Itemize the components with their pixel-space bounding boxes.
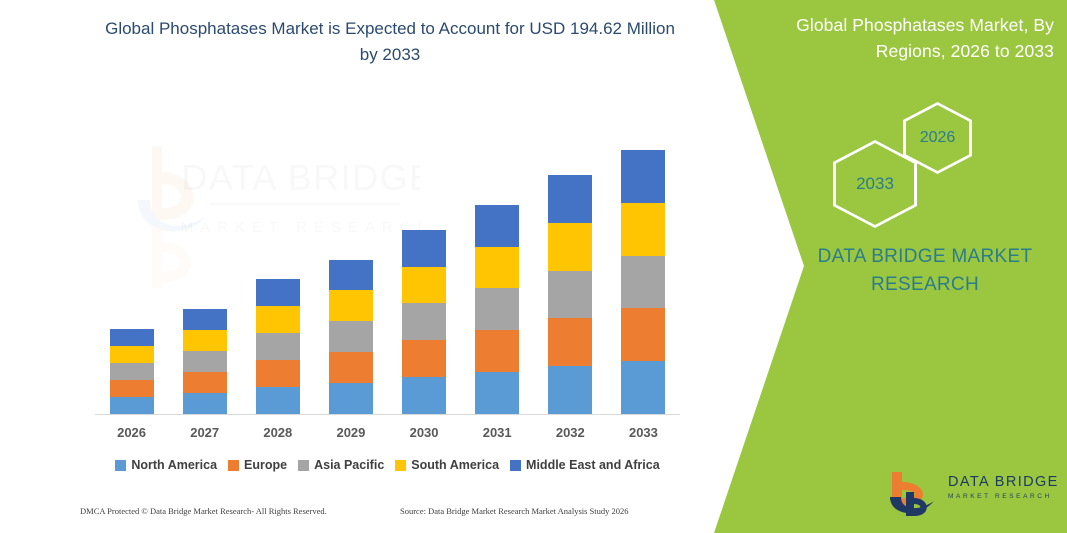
bar-segment xyxy=(548,223,592,271)
bar-segment xyxy=(110,363,154,380)
legend-swatch xyxy=(228,460,239,471)
stacked-bar xyxy=(548,175,592,414)
legend-swatch xyxy=(510,460,521,471)
bar-segment xyxy=(329,383,373,414)
legend-label: North America xyxy=(131,458,217,472)
data-bridge-logo: DATA BRIDGE MARKET RESEARCH xyxy=(888,470,1060,518)
legend-swatch xyxy=(115,460,126,471)
x-axis-label: 2033 xyxy=(607,425,679,440)
bar-column xyxy=(169,120,241,414)
bar-segment xyxy=(183,309,227,330)
legend-swatch xyxy=(395,460,406,471)
bar-segment xyxy=(548,318,592,366)
panel-brand: DATA BRIDGE MARKET RESEARCH xyxy=(790,243,1060,299)
bar-segment xyxy=(402,340,446,377)
bar-segment xyxy=(548,271,592,319)
legend-label: Asia Pacific xyxy=(314,458,384,472)
bar-segment xyxy=(621,361,665,414)
x-axis-labels: 20262027202820292030203120322033 xyxy=(95,420,680,444)
bar-segment xyxy=(402,377,446,414)
hexagon-year-2033-label: 2033 xyxy=(836,143,914,225)
stacked-bar xyxy=(256,279,300,414)
bar-column xyxy=(534,120,606,414)
bar-column xyxy=(607,120,679,414)
bar-segment xyxy=(183,372,227,393)
bar-segment xyxy=(256,306,300,333)
legend-item[interactable]: Middle East and Africa xyxy=(510,458,660,472)
bar-segment xyxy=(183,393,227,414)
bar-segment xyxy=(183,330,227,351)
legend-label: South America xyxy=(411,458,499,472)
footer-source: Source: Data Bridge Market Research Mark… xyxy=(400,506,629,516)
legend-item[interactable]: Europe xyxy=(228,458,287,472)
data-bridge-logo-mark xyxy=(888,470,942,518)
stacked-bar xyxy=(183,309,227,414)
data-bridge-logo-text: DATA BRIDGE MARKET RESEARCH xyxy=(948,474,1060,503)
logo-line1: DATA BRIDGE xyxy=(948,474,1060,491)
bar-segment xyxy=(621,150,665,203)
bar-segment xyxy=(621,256,665,309)
bar-segment xyxy=(548,366,592,414)
stacked-bar xyxy=(621,150,665,414)
bar-column xyxy=(242,120,314,414)
bar-column xyxy=(315,120,387,414)
logo-line2: MARKET RESEARCH xyxy=(948,491,1060,503)
footer-copyright: DMCA Protected © Data Bridge Market Rese… xyxy=(80,506,327,516)
x-axis-label: 2031 xyxy=(461,425,533,440)
bar-segment xyxy=(329,352,373,383)
bar-segment xyxy=(475,288,519,330)
x-axis-line xyxy=(95,414,680,415)
hexagon-year-2026-label: 2026 xyxy=(906,105,969,171)
bar-segment xyxy=(110,380,154,397)
x-axis-label: 2032 xyxy=(534,425,606,440)
stacked-bar xyxy=(110,329,154,414)
bar-segment xyxy=(256,387,300,414)
stacked-bar xyxy=(475,205,519,414)
bar-segment xyxy=(329,260,373,291)
panel-title: Global Phosphatases Market, By Regions, … xyxy=(786,12,1054,64)
bar-segment xyxy=(329,290,373,321)
bar-segment xyxy=(475,372,519,414)
footer: DMCA Protected © Data Bridge Market Rese… xyxy=(80,506,680,524)
x-axis-label: 2028 xyxy=(242,425,314,440)
bar-segment xyxy=(475,205,519,247)
bar-column xyxy=(96,120,168,414)
bar-column xyxy=(461,120,533,414)
bar-segment xyxy=(256,360,300,387)
legend-item[interactable]: South America xyxy=(395,458,499,472)
bar-segment xyxy=(402,267,446,304)
bar-segment xyxy=(183,351,227,372)
bar-segment xyxy=(621,203,665,256)
panel-brand-line1: DATA BRIDGE MARKET xyxy=(790,243,1060,271)
chart-legend: North AmericaEuropeAsia PacificSouth Ame… xyxy=(95,454,680,476)
bar-segment xyxy=(110,346,154,363)
panel-brand-line2: RESEARCH xyxy=(790,271,1060,299)
bar-segment xyxy=(621,308,665,361)
bar-segment xyxy=(402,230,446,267)
infographic-canvas: Global Phosphatases Market is Expected t… xyxy=(0,0,1067,533)
page-title: Global Phosphatases Market is Expected t… xyxy=(95,16,685,68)
bar-segment xyxy=(329,321,373,352)
legend-label: Middle East and Africa xyxy=(526,458,660,472)
bar-segment xyxy=(256,279,300,306)
bar-segment xyxy=(475,247,519,289)
x-axis-label: 2026 xyxy=(96,425,168,440)
stacked-bar xyxy=(329,260,373,414)
stacked-bar-chart xyxy=(95,120,680,414)
legend-item[interactable]: Asia Pacific xyxy=(298,458,384,472)
x-axis-label: 2029 xyxy=(315,425,387,440)
bar-segment xyxy=(548,175,592,223)
x-axis-label: 2030 xyxy=(388,425,460,440)
bar-segment xyxy=(110,329,154,346)
bar-segment xyxy=(256,333,300,360)
legend-item[interactable]: North America xyxy=(115,458,217,472)
bar-segment xyxy=(110,397,154,414)
x-axis-label: 2027 xyxy=(169,425,241,440)
legend-swatch xyxy=(298,460,309,471)
legend-label: Europe xyxy=(244,458,287,472)
bar-segment xyxy=(402,303,446,340)
stacked-bar xyxy=(402,230,446,414)
bar-column xyxy=(388,120,460,414)
bar-segment xyxy=(475,330,519,372)
